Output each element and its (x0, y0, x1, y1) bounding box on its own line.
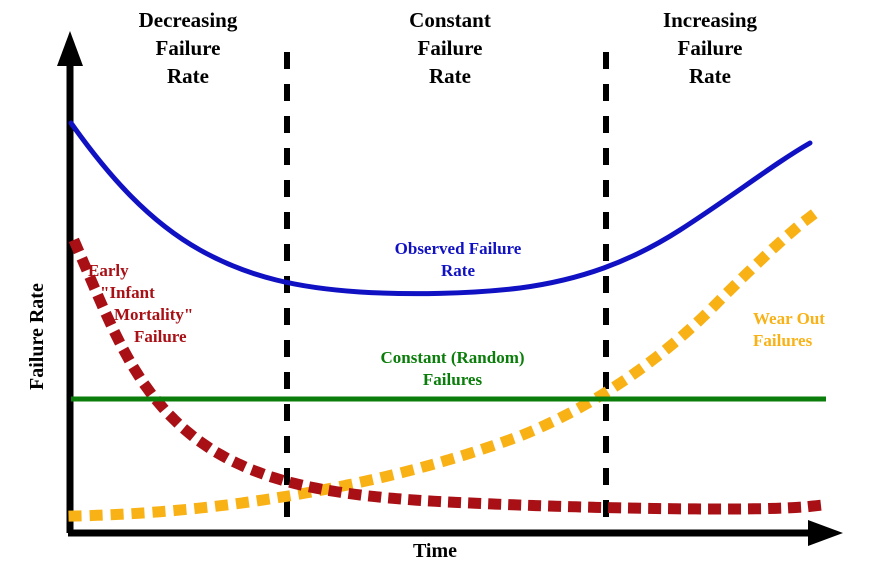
label-wear-out-failures: Wear Out Failures (753, 308, 873, 352)
label-early-infant-mortality: Early"InfantMortality"Failure (88, 238, 238, 370)
y-axis-title: Failure Rate (26, 283, 49, 390)
zone-title-increasing: Increasing Failure Rate (615, 6, 805, 90)
bathtub-curve-chart: Decreasing Failure Rate Constant Failure… (0, 0, 875, 573)
zone-title-decreasing: Decreasing Failure Rate (93, 6, 283, 90)
label-early-line: Failure (88, 326, 238, 348)
label-early-line: Early (88, 260, 238, 282)
label-early-line-1: Early"InfantMortality"Failure (88, 260, 238, 348)
y-axis (57, 31, 83, 533)
label-observed-failure-rate: Observed Failure Rate (368, 238, 548, 282)
label-constant-random-failures: Constant (Random) Failures (340, 347, 565, 391)
label-early-line: "Infant (88, 282, 238, 304)
x-axis-title: Time (380, 540, 490, 563)
zone-title-constant: Constant Failure Rate (355, 6, 545, 90)
label-early-line: Mortality" (88, 304, 238, 326)
